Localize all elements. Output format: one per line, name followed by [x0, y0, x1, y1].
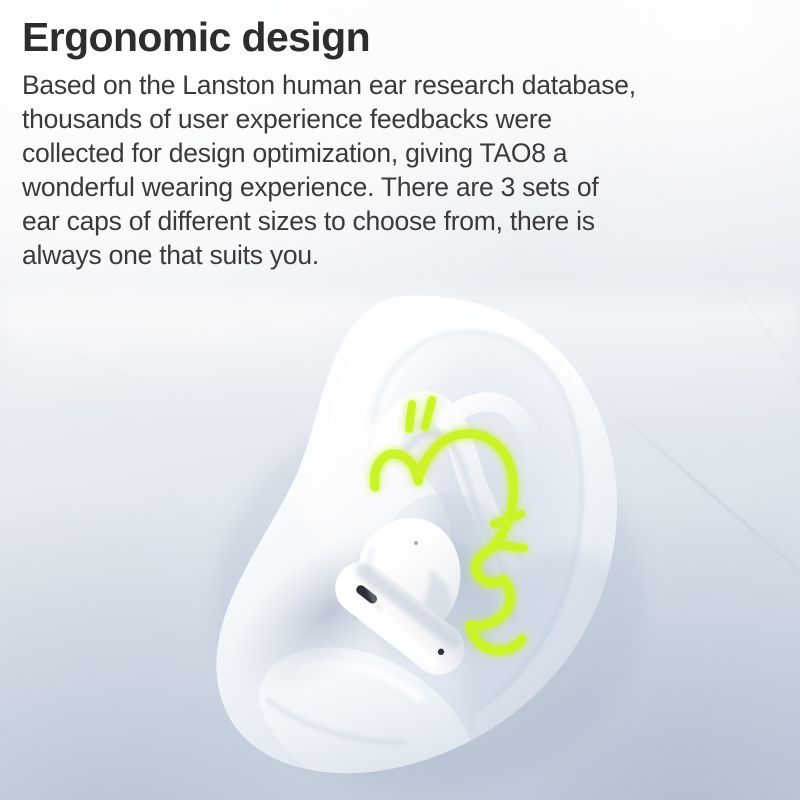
body-line: ear caps of different sizes to choose fr…: [22, 204, 752, 238]
background-soft-band: [0, 296, 800, 426]
body-line: wonderful wearing experience. There are …: [22, 170, 752, 204]
body-paragraph: Based on the Lanston human ear research …: [22, 68, 752, 272]
body-line: Based on the Lanston human ear research …: [22, 68, 752, 102]
body-line: collected for design optimization, givin…: [22, 136, 752, 170]
page-title: Ergonomic design: [22, 12, 762, 62]
body-line: always one that suits you.: [22, 238, 752, 272]
text-block: Ergonomic design Based on the Lanston hu…: [22, 12, 762, 272]
background-shadow-bottom-right: [336, 512, 800, 800]
product-slide: Ergonomic design Based on the Lanston hu…: [0, 0, 800, 800]
body-line: thousands of user experience feedbacks w…: [22, 102, 752, 136]
